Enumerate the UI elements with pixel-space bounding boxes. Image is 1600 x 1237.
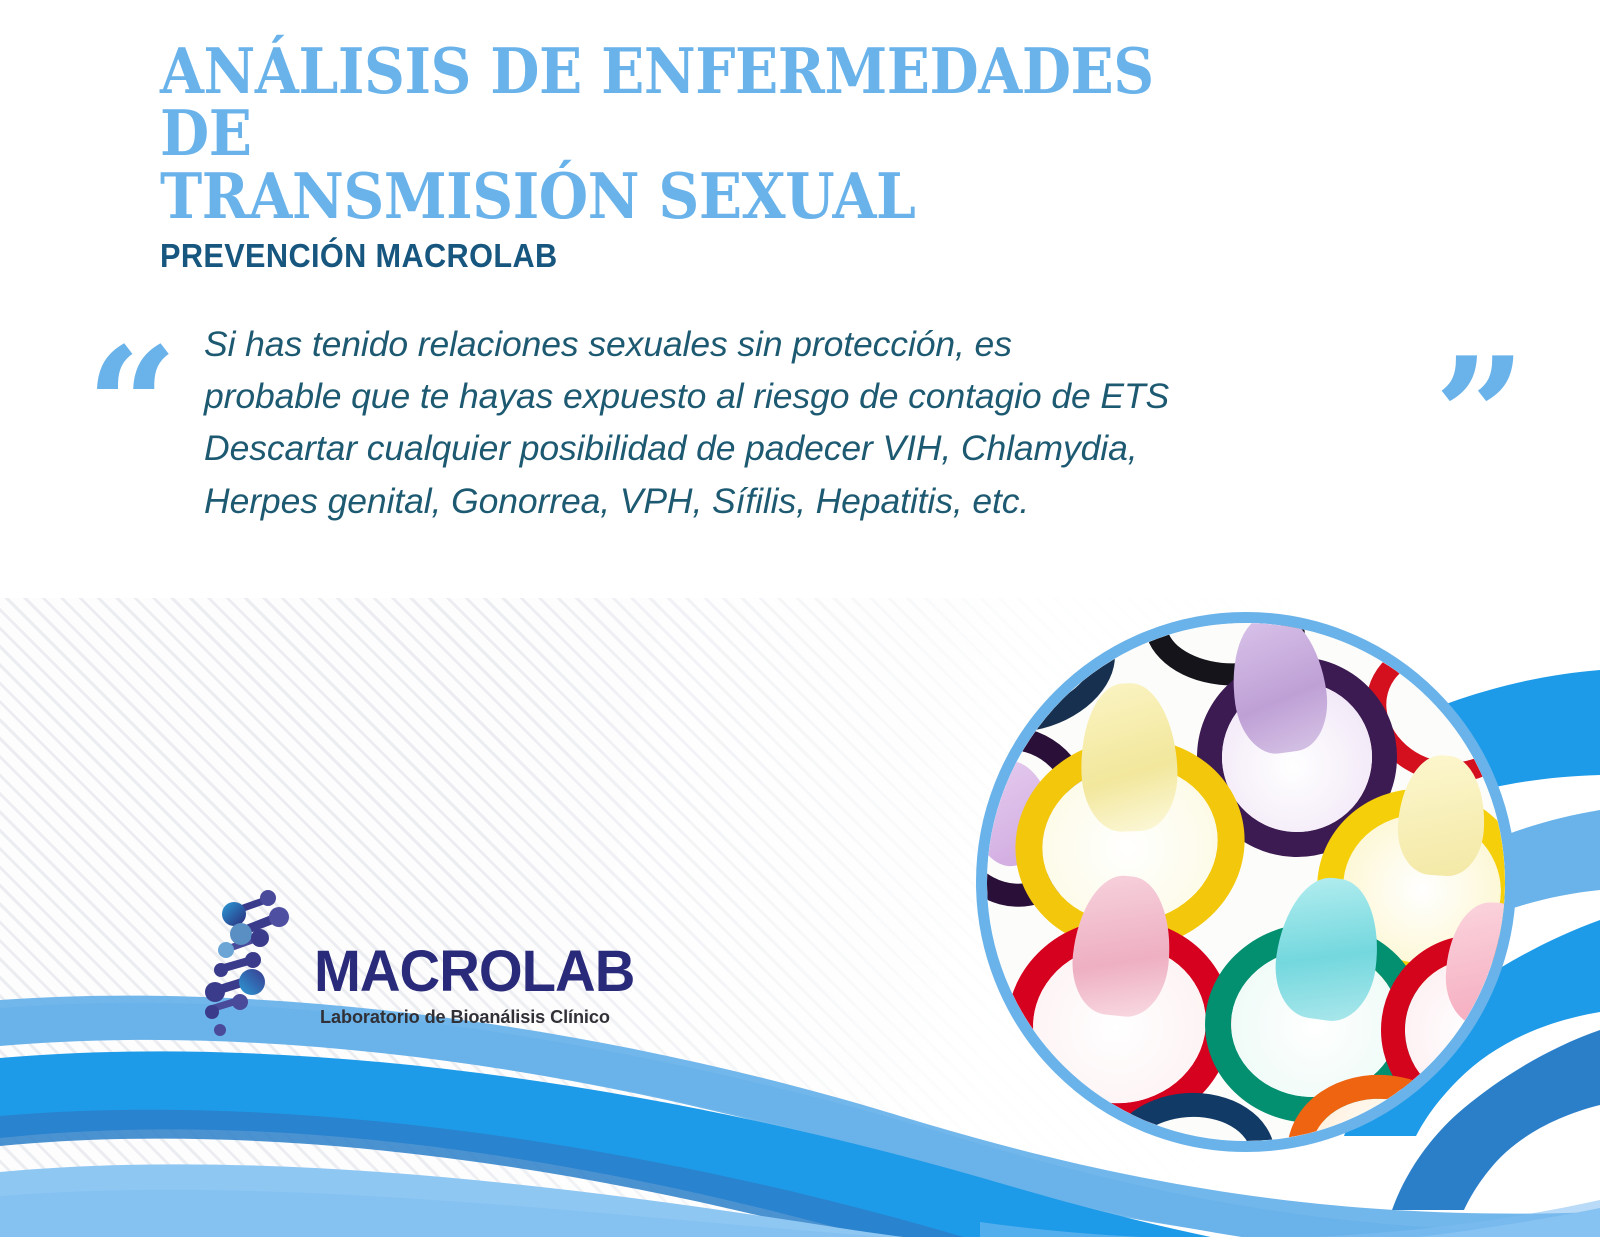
quote-line-4: Herpes genital, Gonorrea, VPH, Sífilis, …	[204, 475, 1408, 527]
logo-brand-text: MACROLAB	[314, 938, 634, 1005]
logo: MACROLAB Laboratorio de Bioanálisis Clín…	[196, 872, 616, 1042]
header: ANÁLISIS DE ENFERMEDADES DE TRANSMISIÓN …	[160, 40, 1360, 275]
page-title: ANÁLISIS DE ENFERMEDADES DE TRANSMISIÓN …	[160, 40, 1240, 227]
quote-text: Si has tenido relaciones sexuales sin pr…	[204, 318, 1408, 527]
quote-line-3: Descartar cualquier posibilidad de padec…	[204, 422, 1408, 474]
quote-line-2: probable que te hayas expuesto al riesgo…	[204, 370, 1408, 422]
quote-open-icon: “	[86, 326, 178, 486]
quote-block: “ Si has tenido relaciones sexuales sin …	[86, 318, 1526, 548]
dna-molecule-icon	[196, 872, 316, 1042]
page-subtitle: PREVENCIÓN MACROLAB	[160, 237, 1276, 275]
photo-circle-condoms	[976, 612, 1516, 1152]
logo-tagline: Laboratorio de Bioanálisis Clínico	[320, 1006, 610, 1028]
quote-close-icon: ”	[1434, 336, 1526, 496]
photo-image	[987, 623, 1505, 1141]
poster-canvas: ANÁLISIS DE ENFERMEDADES DE TRANSMISIÓN …	[0, 0, 1600, 1237]
quote-line-1: Si has tenido relaciones sexuales sin pr…	[204, 318, 1408, 370]
